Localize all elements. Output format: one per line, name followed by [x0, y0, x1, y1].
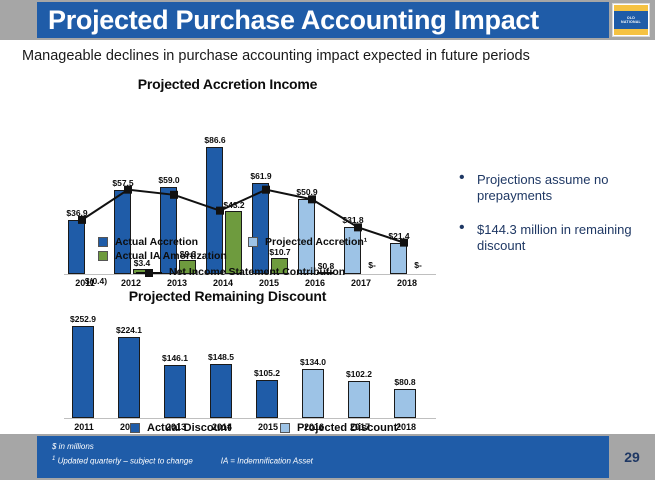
- bar-discount-2013: [164, 365, 186, 418]
- legend-item-actual-discount: Actual Discount: [130, 422, 231, 434]
- bar-value-label: $80.8: [384, 377, 426, 387]
- footnote-updated: Updated quarterly – subject to change: [55, 457, 192, 466]
- square-icon-actual-discount: [130, 423, 140, 433]
- chart2-title: Projected Remaining Discount: [20, 288, 435, 304]
- bar-value-label: $224.1: [108, 325, 150, 335]
- square-icon-projected-discount: [280, 423, 290, 433]
- legend-item-actual-accretion: Actual Accretion: [98, 236, 198, 248]
- footnote-ia-definition: IA = Indemnification Asset: [221, 457, 313, 466]
- bar-discount-2014: [210, 364, 232, 418]
- bar-discount-2016: [302, 369, 324, 418]
- bar-value-label: $148.5: [200, 352, 242, 362]
- legend-label-actual-accretion: Actual Accretion: [115, 236, 198, 248]
- legend-label-actual-discount: Actual Discount: [147, 422, 231, 434]
- logo-bottom-bar: [614, 29, 648, 35]
- bar-value-label: $86.6: [198, 135, 232, 145]
- key-points-list: Projections assume no prepayments $144.3…: [455, 172, 645, 272]
- bar-value-label: $105.2: [246, 368, 288, 378]
- square-icon-actual-accretion: [98, 237, 108, 247]
- bar-value-label: $102.2: [338, 369, 380, 379]
- bar-value-label: $36.9: [60, 208, 94, 218]
- bar-value-label: $134.0: [292, 357, 334, 367]
- bar-value-label: $31.8: [336, 215, 370, 225]
- old-national-logo: OLD NATIONAL: [612, 3, 650, 37]
- square-icon-projected-accretion: [248, 237, 258, 247]
- bar-value-label: $146.1: [154, 353, 196, 363]
- bar-discount-2018: [394, 389, 416, 418]
- bar-value-label: $59.0: [152, 175, 186, 185]
- bar-discount-2012: [118, 337, 140, 418]
- footer-rule: [0, 480, 655, 481]
- legend-item-net-income-statement-contribution: Net Income Statement Contribution: [136, 266, 345, 278]
- logo-line-2: NATIONAL: [621, 20, 641, 24]
- legend-label-net-income-statement-contribution: Net Income Statement Contribution: [169, 266, 345, 278]
- footer-notes: $ in millions 1 Updated quarterly – subj…: [52, 440, 592, 468]
- legend-label-projected-discount: Projected Discount¹: [297, 422, 401, 434]
- bar-value-label: $61.9: [244, 171, 278, 181]
- bar-discount-2015: [256, 380, 278, 418]
- footnote-line-2: 1 Updated quarterly – subject to changeI…: [52, 453, 592, 468]
- chart2-x-axis: [64, 418, 436, 419]
- page-number: 29: [609, 436, 655, 478]
- page-title: Projected Purchase Accounting Impact: [48, 4, 596, 37]
- legend-label-actual-ia-amortization: Actual IA Amortization: [115, 250, 227, 262]
- list-item: Projections assume no prepayments: [455, 172, 645, 204]
- legend-label-projected-accretion: Projected Accretion¹: [265, 236, 367, 248]
- chart1-title: Projected Accretion Income: [20, 76, 435, 92]
- legend-item-projected-discount: Projected Discount¹: [280, 422, 401, 434]
- bar-discount-2011: [72, 326, 94, 418]
- square-icon-actual-ia-amortization: [98, 251, 108, 261]
- chart-projected-remaining-discount: Projected Remaining Discount $252.9$224.…: [20, 288, 435, 443]
- slide-subtitle: Manageable declines in purchase accounti…: [22, 48, 622, 64]
- x-tick-label: 2011: [62, 422, 106, 432]
- footnote-units: $ in millions: [52, 440, 592, 453]
- bar-accretion-2011: [68, 220, 85, 274]
- bar-value-label: $50.9: [290, 187, 324, 197]
- logo-wordmark: OLD NATIONAL: [614, 11, 648, 29]
- list-item: $144.3 million in remaining discount: [455, 222, 645, 254]
- bar-value-label: $252.9: [62, 314, 104, 324]
- legend-item-projected-accretion: Projected Accretion¹: [248, 236, 367, 248]
- line-marker-icon-net-income: [136, 268, 162, 277]
- bar-value-label: $43.2: [217, 200, 251, 210]
- bar-discount-2017: [348, 381, 370, 418]
- chart1-legend: Actual Accretion Projected Accretion¹ Ac…: [98, 236, 428, 280]
- legend-item-actual-ia-amortization: Actual IA Amortization: [98, 250, 227, 262]
- bar-value-label: $57.5: [106, 178, 140, 188]
